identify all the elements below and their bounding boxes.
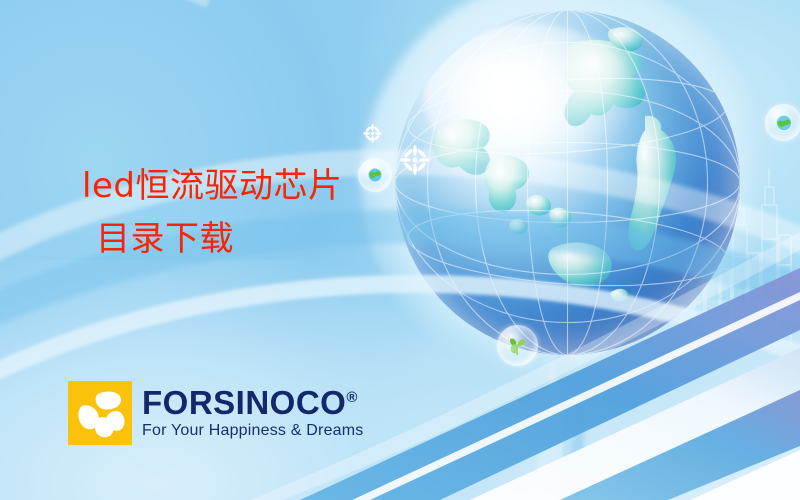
logo-text-block: FORSINOCO® For Your Happiness & Dreams [142, 386, 364, 441]
company-logo: FORSINOCO® For Your Happiness & Dreams [68, 381, 364, 445]
forsinoco-pinwheel-mark [68, 381, 132, 445]
headline-line-1: led恒流驱动芯片 [82, 160, 412, 213]
spark-asterisk-small [363, 124, 382, 143]
bubble-globe-edge [765, 104, 800, 141]
green-globe-icon [774, 113, 793, 132]
registered-trademark-symbol: ® [346, 389, 358, 406]
banner-image: led恒流驱动芯片 目录下载 FORSINOCO® For Your Happi… [0, 0, 800, 500]
headline-line-2: 目录下载 [82, 213, 412, 266]
pinwheel-petals-icon [68, 381, 132, 445]
logo-wordmark-text: FORSINOCO [142, 384, 346, 421]
green-sprout-icon [507, 335, 529, 357]
logo-tagline: For Your Happiness & Dreams [142, 422, 364, 440]
logo-wordmark: FORSINOCO® [142, 386, 364, 421]
headline-text: led恒流驱动芯片 目录下载 [82, 160, 412, 265]
bubble-sprout [497, 325, 538, 366]
